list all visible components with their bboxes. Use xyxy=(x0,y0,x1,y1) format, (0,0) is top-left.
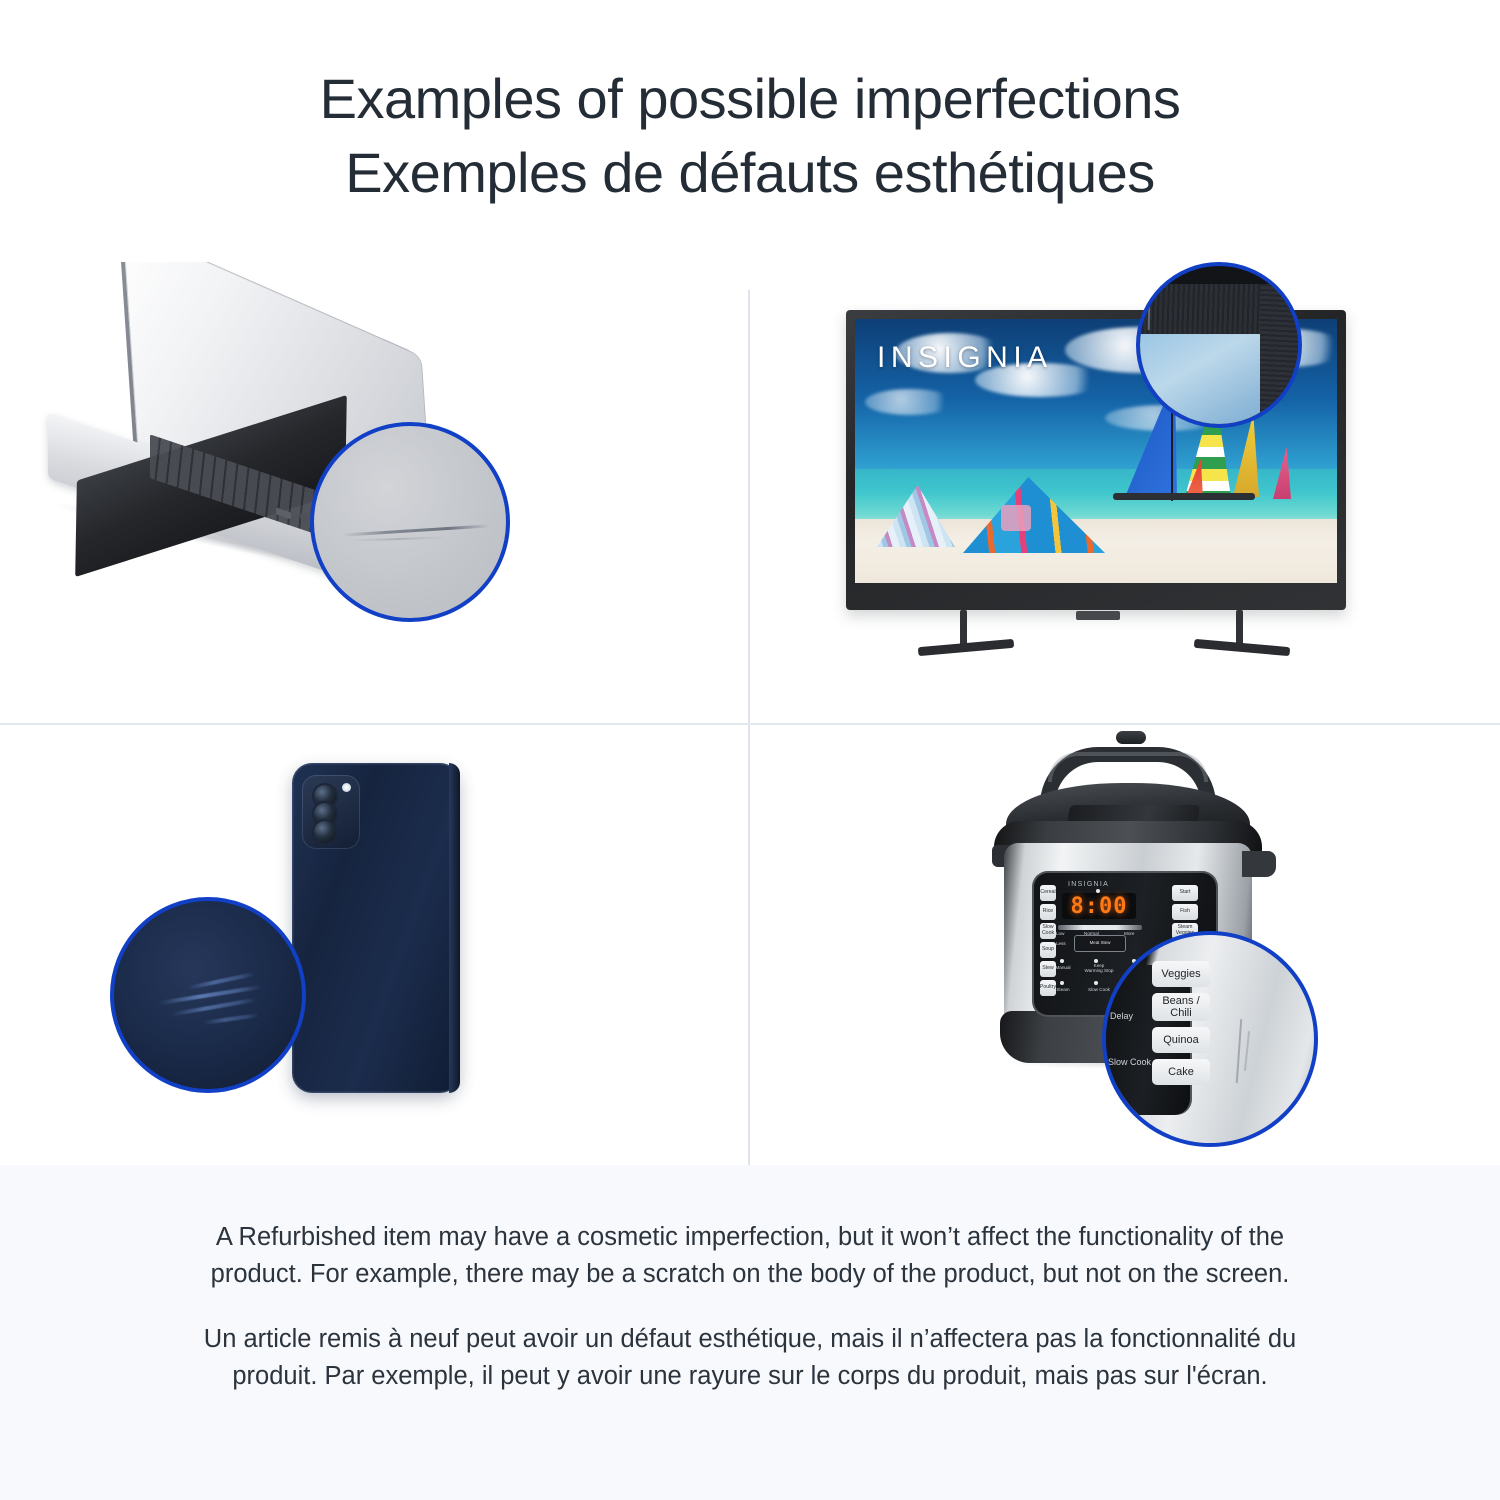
cooker-zoom-button-cake[interactable]: Cake xyxy=(1152,1059,1210,1085)
cooker-zoom-button-veggies[interactable]: Veggies xyxy=(1152,961,1210,987)
cooker-zoom-button-quinoa[interactable]: Quinoa xyxy=(1152,1027,1210,1053)
laptop-scratch-mark-secondary xyxy=(350,536,446,541)
cooker-indicator-dot xyxy=(1060,981,1064,985)
cooker-scratch-mark-secondary xyxy=(1244,1031,1250,1071)
cooker-sub-display[interactable]: Meat Stew xyxy=(1074,935,1126,952)
cloud-shape xyxy=(865,389,955,415)
boat-hull xyxy=(1113,493,1255,500)
cooker-display-value: 8:00 xyxy=(1071,894,1128,919)
phone-body xyxy=(292,763,460,1093)
panel-television: INSIGNIA xyxy=(750,262,1500,723)
disclaimer-french: Un article remis à neuf peut avoir un dé… xyxy=(185,1321,1315,1395)
phone-camera-module xyxy=(302,775,360,849)
page-title-french: Exemples de défauts esthétiques xyxy=(345,136,1154,210)
cooker-button-column-left: Cereal Rice Slow Cook Soup Stew Poultry xyxy=(1040,885,1056,996)
cooker-button-soup[interactable]: Soup xyxy=(1040,942,1056,958)
cooker-scratch-mark xyxy=(1236,1019,1242,1083)
cooker-button-rice[interactable]: Rice xyxy=(1040,904,1056,920)
camera-flash-icon xyxy=(342,783,351,792)
cooker-button-start[interactable]: Start xyxy=(1172,885,1198,901)
laptop-scratch-mark xyxy=(342,524,490,536)
cooker-indicator-dot xyxy=(1094,981,1098,985)
cooker-pressure-bar xyxy=(1058,925,1142,930)
tv-zoom-screen-area xyxy=(1136,332,1264,428)
examples-grid: INSIGNIA xyxy=(0,262,1500,1165)
footer-disclaimer: A Refurbished item may have a cosmetic i… xyxy=(0,1165,1500,1500)
laptop-illustration xyxy=(0,262,748,723)
cooker-zoom-label-slowcook: Slow Cook xyxy=(1108,1057,1151,1067)
tv-brand-logo: INSIGNIA xyxy=(877,341,1053,375)
camera-lens-icon xyxy=(314,821,336,843)
phone-illustration xyxy=(0,725,748,1165)
cooker-lug-right xyxy=(1242,851,1276,877)
page-root: Examples of possible imperfections Exemp… xyxy=(0,0,1500,1500)
magnifier-circle-phone xyxy=(110,897,306,1093)
cooker-zoom-button-beanschili[interactable]: Beans / Chili xyxy=(1152,993,1210,1021)
cooker-label-more: More xyxy=(1124,931,1134,936)
panel-pressure-cooker: INSIGNIA 8:00 Low Normal More Less Meat … xyxy=(750,725,1500,1165)
page-title-english: Examples of possible imperfections xyxy=(320,62,1181,136)
page-header: Examples of possible imperfections Exemp… xyxy=(0,0,1500,262)
magnifier-circle-laptop xyxy=(310,422,510,622)
tv-logo-badge xyxy=(1076,611,1120,620)
cooker-brand-label: INSIGNIA xyxy=(1068,881,1109,888)
tent-emblem xyxy=(1001,505,1031,531)
magnifier-circle-cooker: Delay Slow Cook Veggies Beans / Chili Qu… xyxy=(1102,931,1318,1147)
magnifier-circle-tv xyxy=(1136,262,1302,428)
cooker-illustration: INSIGNIA 8:00 Low Normal More Less Meat … xyxy=(750,725,1500,1165)
panel-laptop xyxy=(0,262,748,723)
cooker-button-stew[interactable]: Stew xyxy=(1040,961,1056,977)
panel-smartphone xyxy=(0,725,748,1165)
cooker-button-fish[interactable]: Fish xyxy=(1172,904,1198,920)
tv-zoom-bezel-corner xyxy=(1260,284,1302,428)
cooker-label-low: Low xyxy=(1056,931,1064,936)
cooker-display: 8:00 xyxy=(1062,893,1136,919)
cooker-button-slowcook[interactable]: Slow Cook xyxy=(1040,923,1056,939)
cooker-label-less: Less xyxy=(1056,941,1066,946)
cooker-button-poultry[interactable]: Poultry xyxy=(1040,980,1056,996)
tv-illustration: INSIGNIA xyxy=(750,262,1500,723)
cooker-steam-vent xyxy=(1116,731,1146,744)
cooker-zoom-label-delay: Delay xyxy=(1110,1011,1133,1021)
cooker-button-cereal[interactable]: Cereal xyxy=(1040,885,1056,901)
cooker-indicator-dot xyxy=(1060,959,1064,963)
cooker-handle-highlight xyxy=(1048,752,1208,782)
phone-side-edge xyxy=(449,763,460,1093)
disclaimer-english: A Refurbished item may have a cosmetic i… xyxy=(185,1219,1315,1293)
phone-scratch-mark xyxy=(202,1013,260,1025)
